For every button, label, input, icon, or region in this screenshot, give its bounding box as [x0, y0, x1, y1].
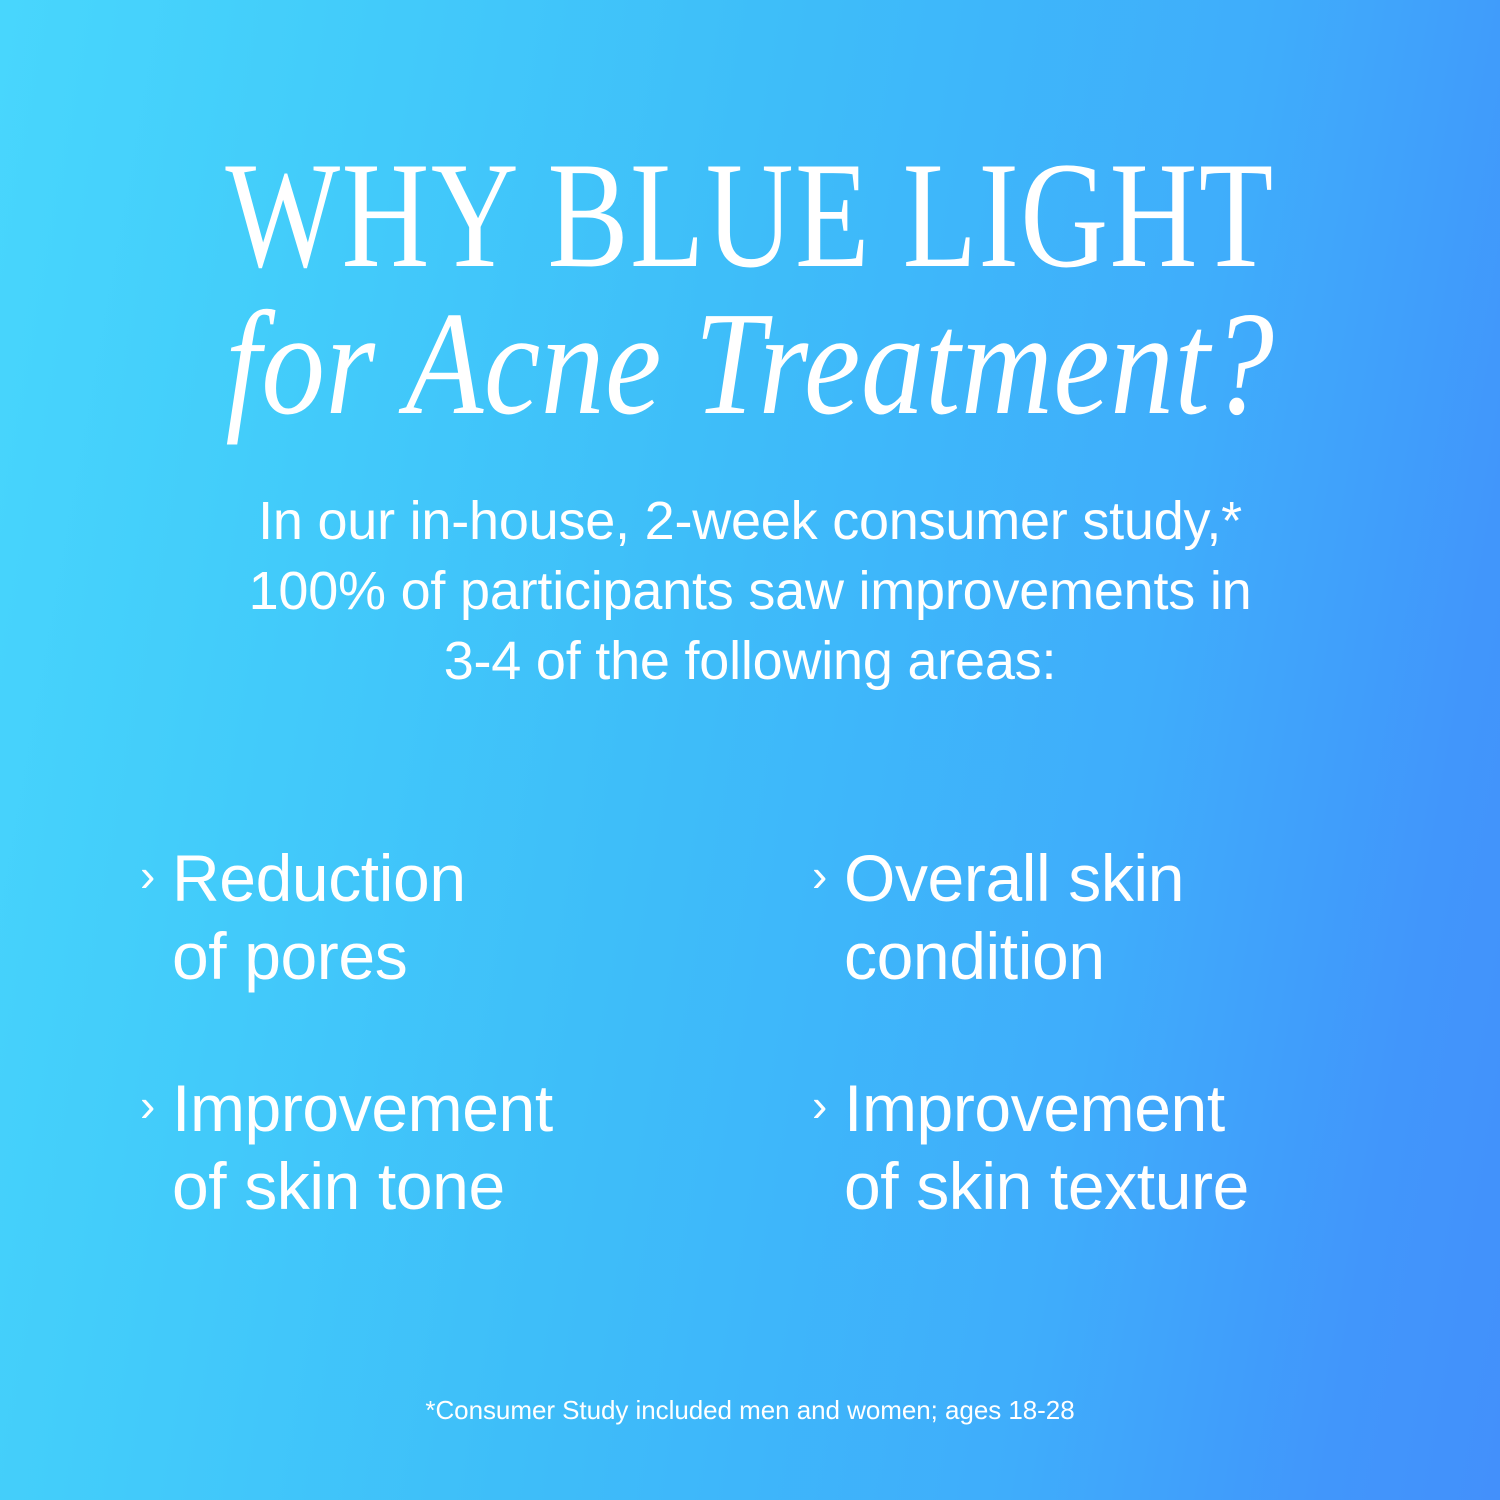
chevron-right-icon: › [140, 840, 172, 911]
promo-poster: WHY BLUE LIGHT for Acne Treatment? In ou… [0, 0, 1500, 1500]
benefit-label-line-1: Improvement [172, 1070, 812, 1148]
benefit-item-improvement-of-skin-texture: › Improvement of skin texture [812, 1070, 1430, 1226]
benefit-label: Improvement of skin tone [172, 1070, 812, 1226]
benefit-label-line-2: of skin texture [844, 1148, 1430, 1226]
intro-line-1: In our in-house, 2-week consumer study,* [150, 486, 1350, 556]
benefit-label-line-1: Reduction [172, 840, 812, 918]
benefit-label-line-1: Improvement [844, 1070, 1430, 1148]
benefit-label-line-2: condition [844, 918, 1430, 996]
benefit-label: Overall skin condition [844, 840, 1430, 996]
benefit-label: Reduction of pores [172, 840, 812, 996]
benefit-label-line-2: of pores [172, 918, 812, 996]
intro-line-3: 3-4 of the following areas: [150, 626, 1350, 696]
benefit-label: Improvement of skin texture [844, 1070, 1430, 1226]
headline-secondary: for Acne Treatment? [105, 290, 1395, 438]
headline-primary: WHY BLUE LIGHT [150, 146, 1350, 286]
benefit-item-reduction-of-pores: › Reduction of pores [140, 840, 812, 1070]
chevron-right-icon: › [812, 1070, 844, 1141]
chevron-right-icon: › [140, 1070, 172, 1141]
headline-block: WHY BLUE LIGHT for Acne Treatment? [0, 146, 1500, 438]
benefits-grid: › Reduction of pores › Overall skin cond… [140, 840, 1430, 1226]
benefit-item-overall-skin-condition: › Overall skin condition [812, 840, 1430, 1070]
chevron-right-icon: › [812, 840, 844, 911]
study-footnote: *Consumer Study included men and women; … [0, 1394, 1500, 1428]
benefit-label-line-1: Overall skin [844, 840, 1430, 918]
benefit-label-line-2: of skin tone [172, 1148, 812, 1226]
intro-paragraph: In our in-house, 2-week consumer study,*… [150, 486, 1350, 697]
intro-line-2: 100% of participants saw improvements in [150, 556, 1350, 626]
benefit-item-improvement-of-skin-tone: › Improvement of skin tone [140, 1070, 812, 1226]
